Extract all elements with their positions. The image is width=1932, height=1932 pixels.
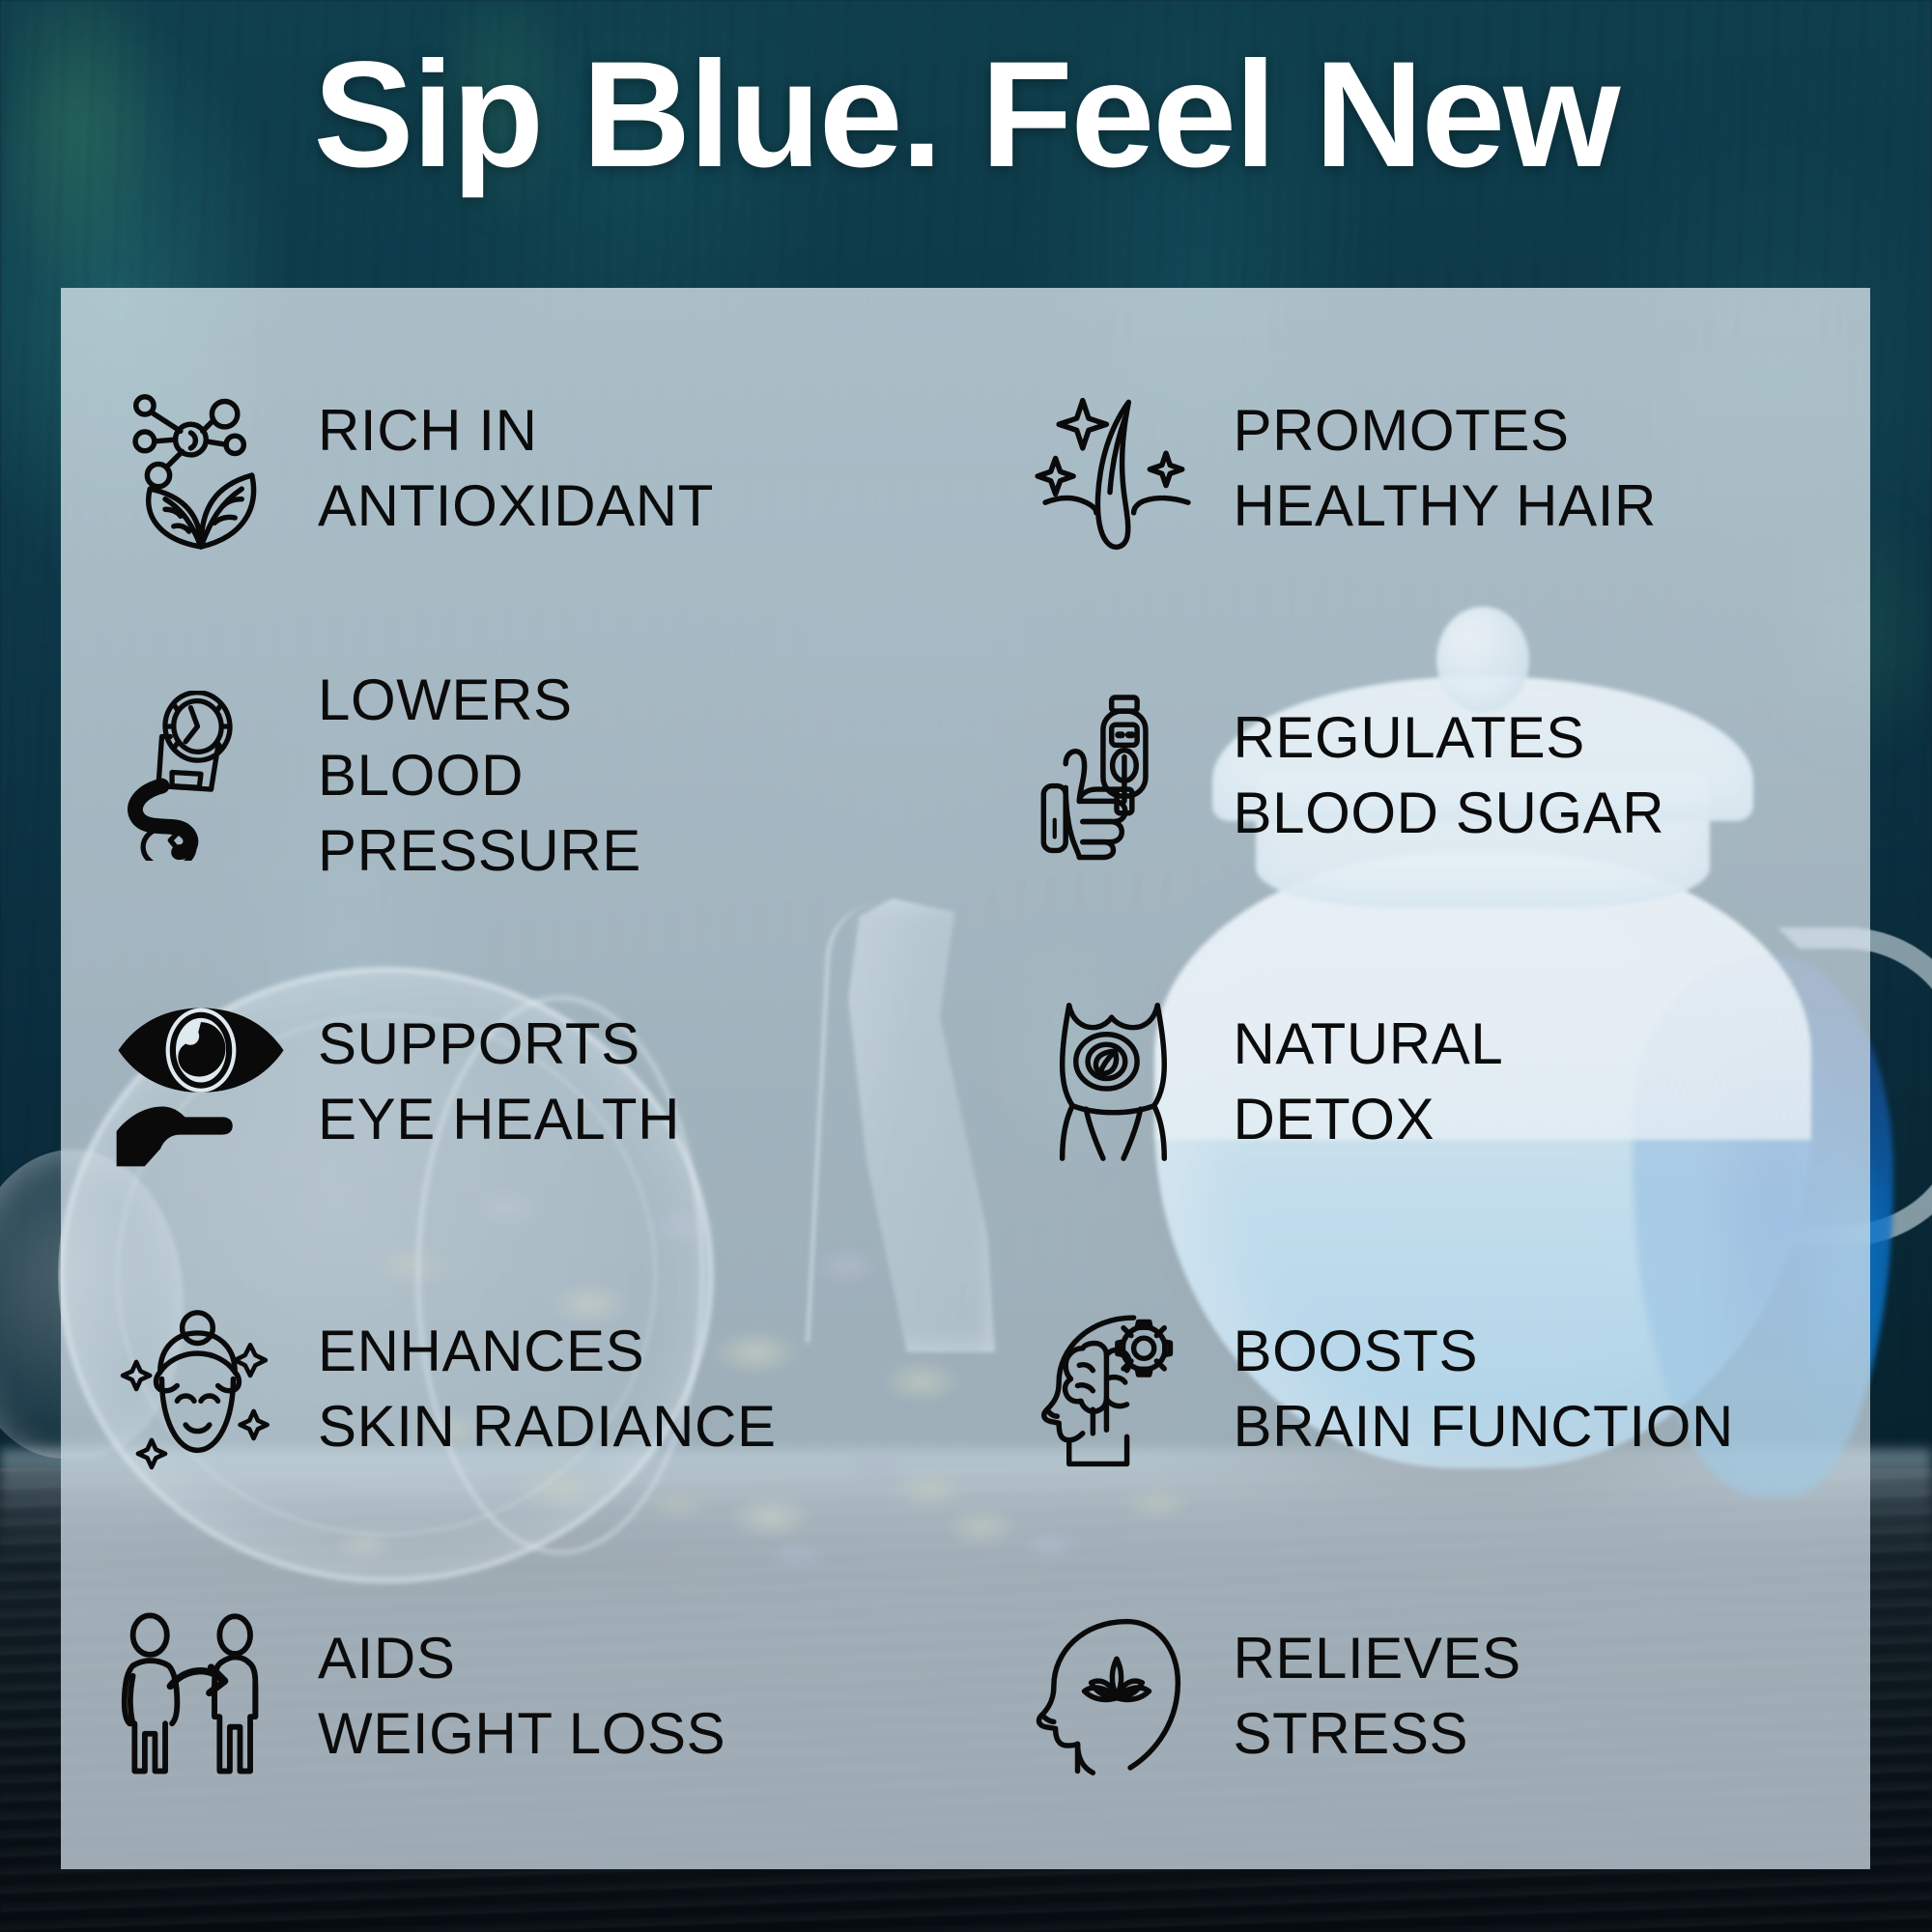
benefit-label: ENHANCES SKIN RADIANCE — [318, 1314, 777, 1464]
hair-follicle-sparkle-icon — [1027, 379, 1207, 558]
benefit-item-promotes-healthy-hair[interactable]: PROMOTES HEALTHY HAIR — [980, 315, 1861, 622]
benefit-label: AIDS WEIGHT LOSS — [318, 1621, 725, 1772]
benefit-label: PROMOTES HEALTHY HAIR — [1234, 393, 1657, 544]
benefit-label: RELIEVES STRESS — [1234, 1621, 1521, 1772]
benefit-label: REGULATES BLOOD SUGAR — [1234, 700, 1665, 851]
benefit-item-natural-detox[interactable]: NATURAL DETOX — [980, 929, 1861, 1236]
head-lotus-icon — [1027, 1606, 1207, 1786]
weight-loss-figures-icon — [111, 1606, 291, 1786]
benefits-grid: RICH IN ANTIOXIDANT PROMOTES HEALTHY HAI… — [61, 288, 1870, 1869]
body-detox-leaf-icon — [1027, 992, 1207, 1172]
blood-pressure-monitor-icon — [111, 686, 291, 866]
benefit-label: NATURAL DETOX — [1234, 1007, 1504, 1157]
benefit-item-aids-weight-loss[interactable]: AIDS WEIGHT LOSS — [99, 1543, 980, 1850]
spa-face-sparkle-icon — [111, 1299, 291, 1479]
brain-gear-head-icon — [1027, 1299, 1207, 1479]
eye-on-hand-icon — [111, 992, 291, 1172]
glucose-meter-hand-icon — [1027, 686, 1207, 866]
benefit-item-boosts-brain-function[interactable]: BOOSTS BRAIN FUNCTION — [980, 1236, 1861, 1543]
benefit-label: SUPPORTS EYE HEALTH — [318, 1007, 680, 1157]
page-title: Sip Blue. Feel New — [0, 39, 1932, 192]
benefit-label: BOOSTS BRAIN FUNCTION — [1234, 1314, 1734, 1464]
antioxidant-molecule-leaf-icon — [111, 379, 291, 558]
benefit-item-rich-in-antioxidant[interactable]: RICH IN ANTIOXIDANT — [99, 315, 980, 622]
benefit-item-enhances-skin-radiance[interactable]: ENHANCES SKIN RADIANCE — [99, 1236, 980, 1543]
benefit-label: RICH IN ANTIOXIDANT — [318, 393, 714, 544]
benefit-item-relieves-stress[interactable]: RELIEVES STRESS — [980, 1543, 1861, 1850]
benefit-item-supports-eye-health[interactable]: SUPPORTS EYE HEALTH — [99, 929, 980, 1236]
benefit-label: LOWERS BLOOD PRESSURE — [318, 663, 641, 889]
benefit-item-lowers-blood-pressure[interactable]: LOWERS BLOOD PRESSURE — [99, 622, 980, 929]
benefit-item-regulates-blood-sugar[interactable]: REGULATES BLOOD SUGAR — [980, 622, 1861, 929]
